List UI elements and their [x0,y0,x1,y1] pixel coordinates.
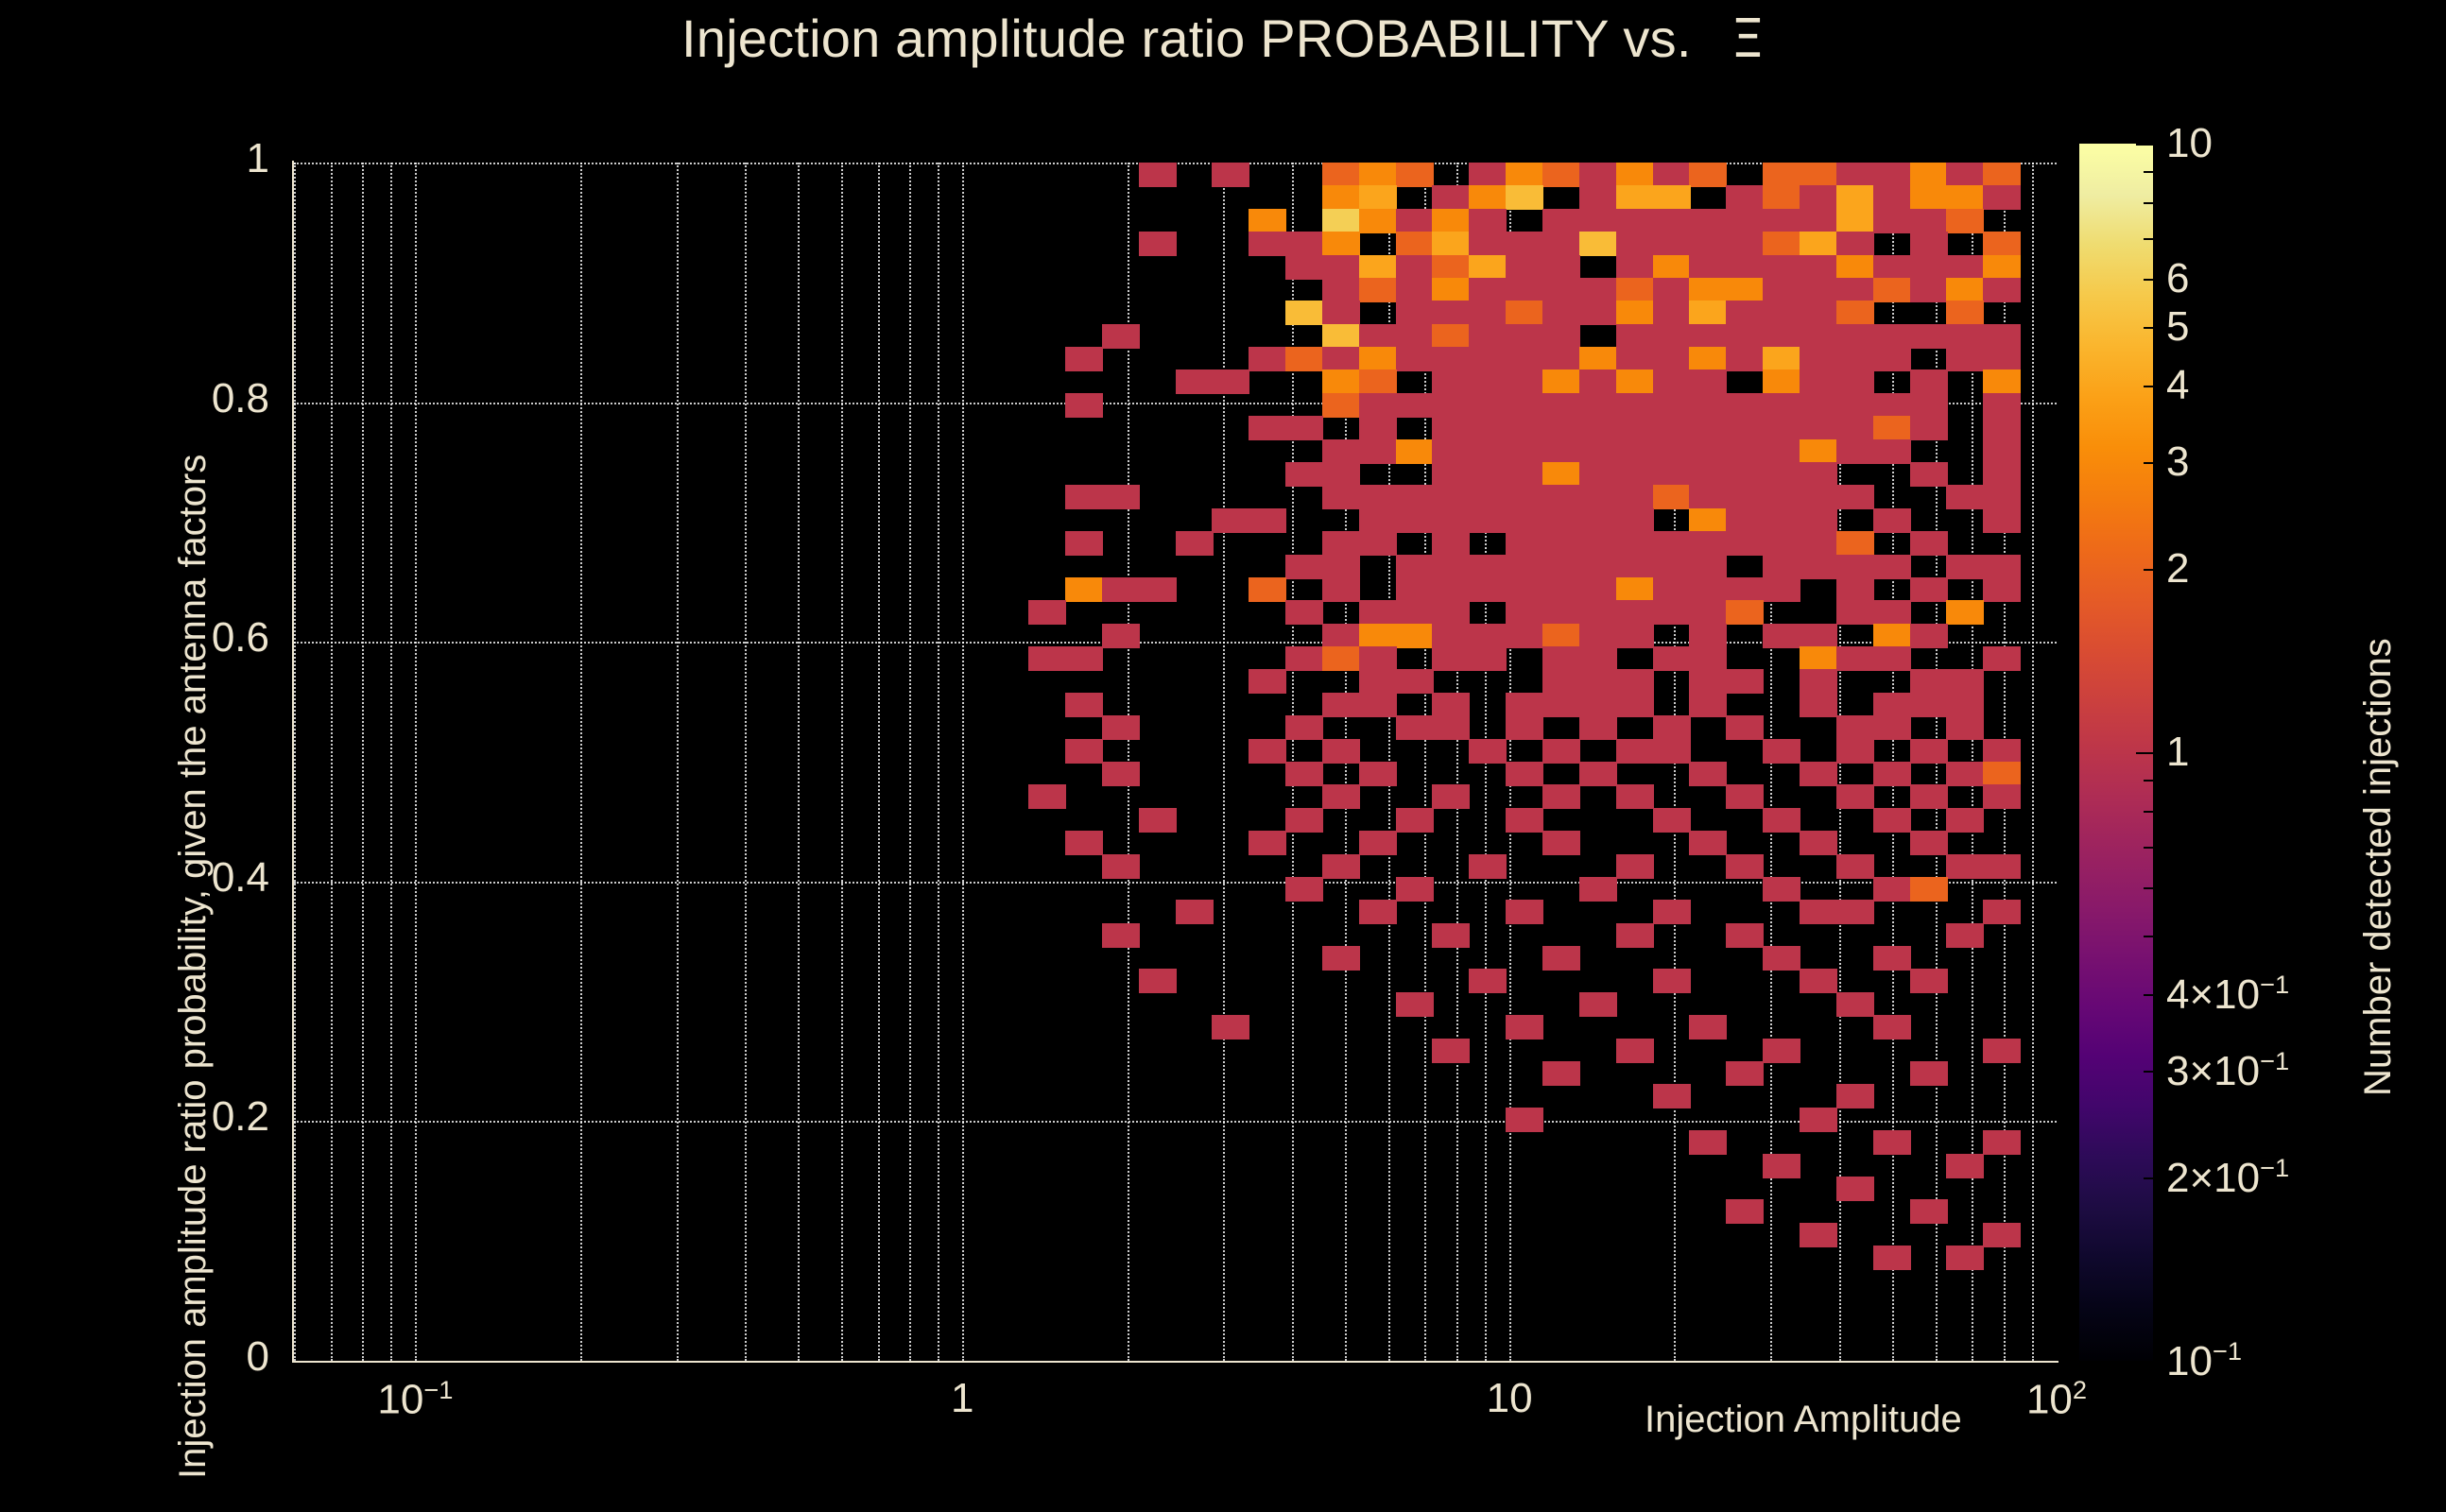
heatmap-cell [1542,669,1580,694]
heatmap-cell [1726,232,1764,256]
heatmap-cell [1322,347,1360,371]
heatmap-cell [1946,163,1984,187]
heatmap-cell [1616,555,1654,579]
heatmap-cell [1763,301,1800,325]
heatmap-cell [1653,324,1691,349]
heatmap-cell [1102,854,1140,879]
heatmap-cell [1579,624,1617,648]
heatmap-cell [1653,255,1691,280]
heatmap-cell [1689,508,1727,533]
heatmap-cell [1910,693,1948,717]
heatmap-cell [1432,209,1470,233]
y-tick-label: 1 [247,135,269,182]
heatmap-cell [1616,163,1654,187]
heatmap-cell [1800,555,1837,579]
heatmap-cell [1689,255,1727,280]
heatmap-cell [1359,900,1397,924]
heatmap-cell [1359,347,1397,371]
colorbar-tick [2144,386,2153,387]
heatmap-cell [1469,163,1507,187]
heatmap-cell [1432,531,1470,556]
heatmap-cell [1065,485,1103,509]
heatmap-cell [1726,508,1764,533]
heatmap-cell [1800,255,1837,280]
heatmap-cell [1763,185,1800,210]
heatmap-cell [1396,600,1434,625]
x-gridline [841,163,843,1361]
colorbar[interactable] [2079,144,2153,1361]
heatmap-cell [1653,715,1691,740]
heatmap-cell [1689,416,1727,440]
heatmap-cell [1359,508,1397,533]
heatmap-cell [1653,439,1691,464]
heatmap-cell [1800,624,1837,648]
heatmap-cell [1983,762,2021,786]
heatmap-cell [1065,531,1103,556]
heatmap-cell [1763,577,1800,602]
y-gridline [294,1121,2057,1123]
x-gridline [1223,163,1225,1361]
heatmap-cell [1432,715,1470,740]
heatmap-cell [1285,762,1323,786]
heatmap-cell [1983,577,2021,602]
heatmap-cell [1139,163,1177,187]
x-gridline [2032,163,2034,1361]
heatmap-cell [1469,969,1507,993]
colorbar-tick-label: 10 [2166,120,2213,167]
colorbar-tick [2144,1071,2153,1073]
heatmap-cell [1800,369,1837,394]
x-tick [0,289,2,298]
heatmap-cell [1065,393,1103,418]
heatmap-cell [1873,1015,1911,1039]
heatmap-cell [1579,508,1617,533]
heatmap-cell [1506,185,1543,210]
heatmap-cell [1983,900,2021,924]
y-tick-label: 0.6 [212,614,269,661]
heatmap-cell [1800,1108,1837,1132]
heatmap-cell [1910,1199,1948,1224]
heatmap-cell [1873,693,1911,717]
heatmap-cell [1653,969,1691,993]
heatmap-cell [1836,278,1874,302]
heatmap-cell [1542,163,1580,187]
heatmap-cell [1542,324,1580,349]
heatmap-cell [1800,831,1837,855]
heatmap-cell [1396,624,1434,648]
heatmap-cell [1065,831,1103,855]
heatmap-cell [1689,1015,1727,1039]
heatmap-cell [1910,831,1948,855]
colorbar-tick [2144,780,2153,782]
heatmap-cell [1322,693,1360,717]
heatmap-cell [1983,255,2021,280]
heatmap-cell [1983,232,2021,256]
heatmap-cell [1653,232,1691,256]
heatmap-cell [1653,163,1691,187]
x-axis-title: Injection Amplitude [1645,1399,1962,1441]
heatmap-cell [1616,669,1654,694]
heatmap-cell [1396,485,1434,509]
heatmap-cell [1542,508,1580,533]
heatmap-cell [1873,416,1911,440]
heatmap-cell [1506,900,1543,924]
colorbar-tick [2144,202,2153,204]
heatmap-cell [1432,1039,1470,1063]
heatmap-cell [1616,739,1654,764]
heatmap-cell [1873,1246,1911,1270]
heatmap-cell [1506,301,1543,325]
heatmap-cell [1689,462,1727,487]
heatmap-cell [1800,1223,1837,1247]
y-tick-label: 0 [247,1333,269,1381]
heatmap-cell [1396,347,1434,371]
heatmap-cell [1432,923,1470,948]
heatmap-cell [1653,600,1691,625]
heatmap-cell [1542,369,1580,394]
heatmap-cell [1800,185,1837,210]
heatmap-cell [1506,416,1543,440]
heatmap-cell [1689,324,1727,349]
x-tick [0,448,2,476]
heatmap-cell [1946,1246,1984,1270]
heatmap-cell [1506,624,1543,648]
heatmap-cell [1763,369,1800,394]
heatmap-cell [1873,347,1911,371]
heatmap-cell [1359,185,1397,210]
heatmap-cell [1616,393,1654,418]
heatmap-cell [1689,1130,1727,1155]
heatmap-cell [1028,784,1066,809]
heatmap-cell [1542,462,1580,487]
heatmap-cell [1506,508,1543,533]
heatmap-cell [1983,347,2021,371]
heatmap-cell [1689,762,1727,786]
heatmap-cell [1836,992,1874,1017]
heatmap-cell [1910,393,1948,418]
colorbar-tick [2136,1361,2153,1363]
heatmap-cell [1689,485,1727,509]
heatmap-cell [1506,163,1543,187]
colorbar-tick-label: 5 [2166,303,2189,351]
heatmap-cell [1616,369,1654,394]
heatmap-cell [1176,369,1214,394]
heatmap-cell [1432,485,1470,509]
heatmap-cell [1359,669,1397,694]
heatmap-cell [1946,693,1984,717]
heatmap-cell [1469,646,1507,671]
heatmap-cell [1579,439,1617,464]
heatmap-cell [1689,669,1727,694]
heatmap-cell [1983,1223,2021,1247]
x-tick [0,184,2,193]
heatmap-cell [1322,163,1360,187]
heatmap-cell [1946,923,1984,948]
heatmap-cell [1542,232,1580,256]
heatmap-cell [1983,278,2021,302]
heatmap-cell [1579,693,1617,717]
heatmap-cell [1396,324,1434,349]
heatmap-cell [1726,462,1764,487]
heatmap-cell [1983,1130,2021,1155]
heatmap-cell [1763,1039,1800,1063]
heatmap-cell [1579,762,1617,786]
heatmap-cell [1689,531,1727,556]
colorbar-tick [2136,144,2153,146]
heatmap-cell [1506,531,1543,556]
heatmap-cell [1322,185,1360,210]
heatmap-cell [1359,369,1397,394]
heatmap-cell [1873,946,1911,971]
x-tick [0,272,2,281]
heatmap-cell [1910,324,1948,349]
heatmap-cell [1359,485,1397,509]
heatmap-cell [1983,646,2021,671]
heatmap-cell [1396,669,1434,694]
heatmap-cell [1396,715,1434,740]
heatmap-cell [1763,555,1800,579]
heatmap-cell [1506,1108,1543,1132]
heatmap-cell [1763,416,1800,440]
heatmap-cell [1653,577,1691,602]
heatmap-cell [1285,255,1323,280]
heatmap-cell [1542,693,1580,717]
heatmap-cell [1396,577,1434,602]
heatmap-cell [1542,739,1580,764]
x-gridline [938,163,939,1361]
colorbar-tick [2144,936,2153,937]
heatmap-cell [1285,301,1323,325]
colorbar-tick [2144,569,2153,571]
heatmap-cell [1946,854,1984,879]
heatmap-cell [1763,163,1800,187]
heatmap-cell [1836,555,1874,579]
colorbar-tick [2144,327,2153,329]
colorbar-tick [2144,238,2153,240]
heatmap-cell [1542,393,1580,418]
heatmap-cell [1946,324,1984,349]
heatmap-cell [1396,439,1434,464]
heatmap-cell [1983,739,2021,764]
heatmap-cell [1726,854,1764,879]
heatmap-cell [1506,693,1543,717]
x-tick [0,122,2,130]
heatmap-cell [1946,762,1984,786]
heatmap-cell [1359,531,1397,556]
x-tick [0,323,2,352]
heatmap-cell [1836,1084,1874,1108]
colorbar-tick [2144,1177,2153,1179]
heatmap-cell [1653,278,1691,302]
heatmap-cell [1689,369,1727,394]
heatmap-cell [1322,393,1360,418]
heatmap-cell [1249,347,1286,371]
heatmap-cell [1249,209,1286,233]
heatmap-cell [1469,209,1507,233]
heatmap-cell [1800,324,1837,349]
heatmap-cell [1763,393,1800,418]
heatmap-cell [1579,992,1617,1017]
heatmap-cell [1212,369,1249,394]
heatmap-plot-area[interactable] [294,163,2057,1361]
heatmap-cell [1396,555,1434,579]
heatmap-cell [1396,877,1434,902]
heatmap-cell [1616,278,1654,302]
heatmap-cell [1983,393,2021,418]
heatmap-cell [1322,784,1360,809]
heatmap-cell [1579,669,1617,694]
heatmap-cell [1322,577,1360,602]
heatmap-cell [1616,232,1654,256]
heatmap-cell [1432,646,1470,671]
x-gridline [962,163,964,1361]
colorbar-tick-label: 3×10−1 [2166,1046,2289,1095]
heatmap-cell [1873,624,1911,648]
heatmap-cell [1616,416,1654,440]
heatmap-cell [1359,255,1397,280]
chart-canvas: Injection amplitude ratio PROBABILITY vs… [0,0,2446,1512]
heatmap-cell [1653,347,1691,371]
heatmap-cell [1873,555,1911,579]
heatmap-cell [1432,232,1470,256]
heatmap-cell [1689,163,1727,187]
heatmap-cell [1579,209,1617,233]
colorbar-tick [2144,887,2153,889]
heatmap-cell [1653,416,1691,440]
heatmap-cell [1763,439,1800,464]
heatmap-cell [1616,624,1654,648]
x-gridline [580,163,582,1361]
heatmap-cell [1873,163,1911,187]
heatmap-cell [1432,278,1470,302]
heatmap-cell [1102,324,1140,349]
heatmap-cell [1873,185,1911,210]
heatmap-cell [1506,1015,1543,1039]
y-tick-label: 0.8 [212,375,269,422]
heatmap-cell [1542,301,1580,325]
colorbar-tick-label: 2 [2166,545,2189,593]
heatmap-cell [1689,831,1727,855]
heatmap-cell [1910,877,1948,902]
heatmap-cell [1910,232,1948,256]
heatmap-cell [1653,301,1691,325]
heatmap-cell [1579,555,1617,579]
heatmap-cell [1836,185,1874,210]
heatmap-cell [1469,485,1507,509]
heatmap-cell [1579,646,1617,671]
heatmap-cell [1432,693,1470,717]
heatmap-cell [1359,693,1397,717]
heatmap-cell [1616,347,1654,371]
heatmap-cell [1396,508,1434,533]
heatmap-cell [1616,854,1654,879]
heatmap-cell [1653,1084,1691,1108]
x-tick [0,167,2,176]
heatmap-cell [1432,577,1470,602]
heatmap-cell [1506,808,1543,833]
colorbar-tick-label: 6 [2166,255,2189,302]
heatmap-cell [1763,209,1800,233]
heatmap-cell [1616,485,1654,509]
heatmap-cell [1542,439,1580,464]
heatmap-cell [1873,1130,1911,1155]
heatmap-cell [1542,831,1580,855]
heatmap-cell [1322,485,1360,509]
heatmap-cell [1800,646,1837,671]
heatmap-cell [1946,1154,1984,1178]
heatmap-cell [1763,739,1800,764]
heatmap-cell [1689,693,1727,717]
heatmap-cell [1506,762,1543,786]
colorbar-tick-label: 10−1 [2166,1336,2242,1385]
heatmap-cell [1469,301,1507,325]
heatmap-cell [1800,762,1837,786]
x-tick [0,264,2,272]
heatmap-cell [1396,232,1434,256]
heatmap-cell [1506,462,1543,487]
heatmap-cell [1322,646,1360,671]
heatmap-cell [1102,923,1140,948]
heatmap-cell [1506,577,1543,602]
heatmap-cell [1946,185,1984,210]
heatmap-cell [1726,439,1764,464]
heatmap-cell [1506,555,1543,579]
heatmap-cell [1653,369,1691,394]
heatmap-cell [1763,877,1800,902]
heatmap-cell [1579,715,1617,740]
heatmap-cell [1432,462,1470,487]
heatmap-cell [1726,715,1764,740]
heatmap-cell [1689,301,1727,325]
heatmap-cell [1432,439,1470,464]
heatmap-cell [1983,784,2021,809]
heatmap-cell [1432,555,1470,579]
heatmap-cell [1910,369,1948,394]
heatmap-cell [1028,646,1066,671]
heatmap-cell [1359,762,1397,786]
heatmap-cell [1910,669,1948,694]
heatmap-cell [1726,416,1764,440]
heatmap-cell [1763,946,1800,971]
heatmap-cell [1616,185,1654,210]
heatmap-cell [1800,232,1837,256]
heatmap-cell [1873,600,1911,625]
heatmap-cell [1542,946,1580,971]
heatmap-cell [1359,163,1397,187]
heatmap-cell [1469,347,1507,371]
heatmap-cell [1579,347,1617,371]
x-tick [0,201,2,210]
heatmap-cell [1873,209,1911,233]
heatmap-cell [1689,347,1727,371]
heatmap-cell [1836,255,1874,280]
heatmap-cell [1910,416,1948,440]
heatmap-cell [1910,255,1948,280]
x-tick [0,377,2,386]
heatmap-cell [1689,209,1727,233]
heatmap-cell [1836,531,1874,556]
heatmap-cell [1506,600,1543,625]
heatmap-cell [1763,531,1800,556]
heatmap-cell [1836,369,1874,394]
heatmap-cell [1359,416,1397,440]
heatmap-cell [1396,209,1434,233]
heatmap-cell [1946,555,1984,579]
heatmap-cell [1689,278,1727,302]
heatmap-cell [1800,393,1837,418]
heatmap-cell [1836,577,1874,602]
heatmap-cell [1873,439,1911,464]
